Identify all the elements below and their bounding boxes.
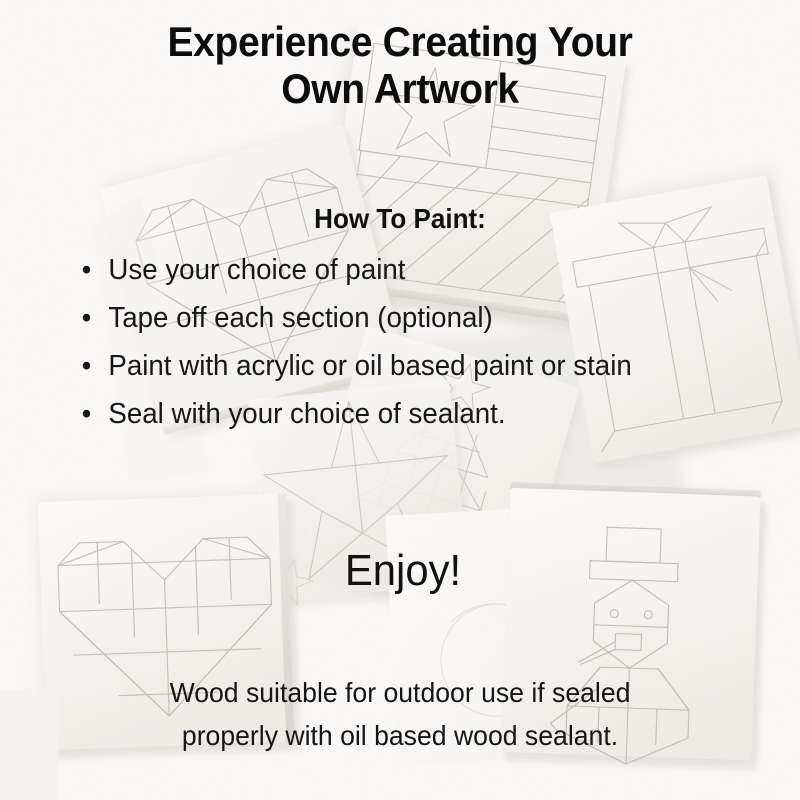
page-title-line-2: Own Artwork [281,65,519,112]
bullet-icon: • [82,392,92,436]
list-item: • Seal with your choice of sealant. [74,392,743,436]
closing-text: Enjoy! [210,549,596,593]
list-item: • Tape off each section (optional) [74,296,743,340]
list-item: • Use your choice of paint [74,248,743,292]
promo-graphic: Experience Creating Your Own Artwork How… [0,0,800,800]
list-item-label: Paint with acrylic or oil based paint or… [108,350,631,382]
list-item: • Paint with acrylic or oil based paint … [74,344,743,388]
bullet-icon: • [82,248,92,292]
footer-note-line-2: properly with oil based wood sealant. [182,720,618,751]
list-item-label: Use your choice of paint [108,254,405,286]
bullet-icon: • [82,344,92,388]
bullet-icon: • [82,296,92,340]
list-item-label: Seal with your choice of sealant. [108,398,505,430]
page-title-line-1: Experience Creating Your [167,18,632,65]
page-title: Experience Creating Your Own Artwork [65,18,735,112]
section-heading-how-to-paint: How To Paint: [65,204,735,235]
footer-note-line-1: Wood suitable for outdoor use if sealed [170,677,631,708]
footer-note: Wood suitable for outdoor use if sealed … [58,672,742,757]
instruction-list: • Use your choice of paint • Tape off ea… [74,248,774,440]
list-item-label: Tape off each section (optional) [108,302,492,334]
